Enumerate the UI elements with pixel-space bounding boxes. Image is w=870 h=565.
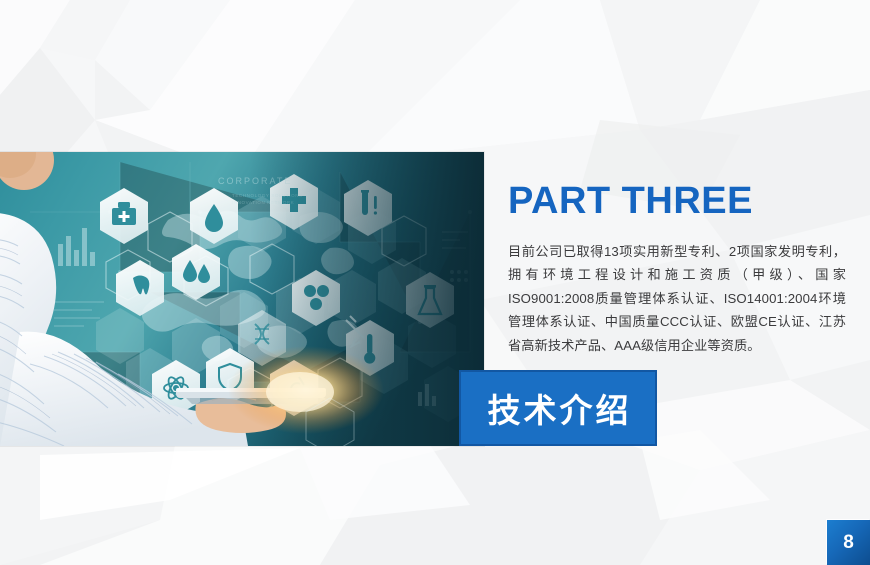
- section-caption-box: 技术介绍: [459, 370, 657, 446]
- hero-image-graphic: CORPORATE TECHNOLOGY SOLUTIONS INNOVATIO…: [0, 152, 484, 446]
- page-number-label: 8: [843, 532, 854, 554]
- page-number-badge: 8: [827, 520, 870, 565]
- section-caption-label: 技术介绍: [485, 384, 632, 432]
- text-column: PART THREE 目前公司已取得13项实用新型专利、2项国家发明专利，拥有环…: [508, 182, 848, 357]
- part-title: PART THREE: [508, 182, 848, 222]
- body-paragraph: 目前公司已取得13项实用新型专利、2项国家发明专利，拥有环境工程设计和施工资质（…: [508, 240, 846, 357]
- slide-canvas: CORPORATE TECHNOLOGY SOLUTIONS INNOVATIO…: [0, 0, 870, 565]
- hero-image: CORPORATE TECHNOLOGY SOLUTIONS INNOVATIO…: [0, 152, 484, 446]
